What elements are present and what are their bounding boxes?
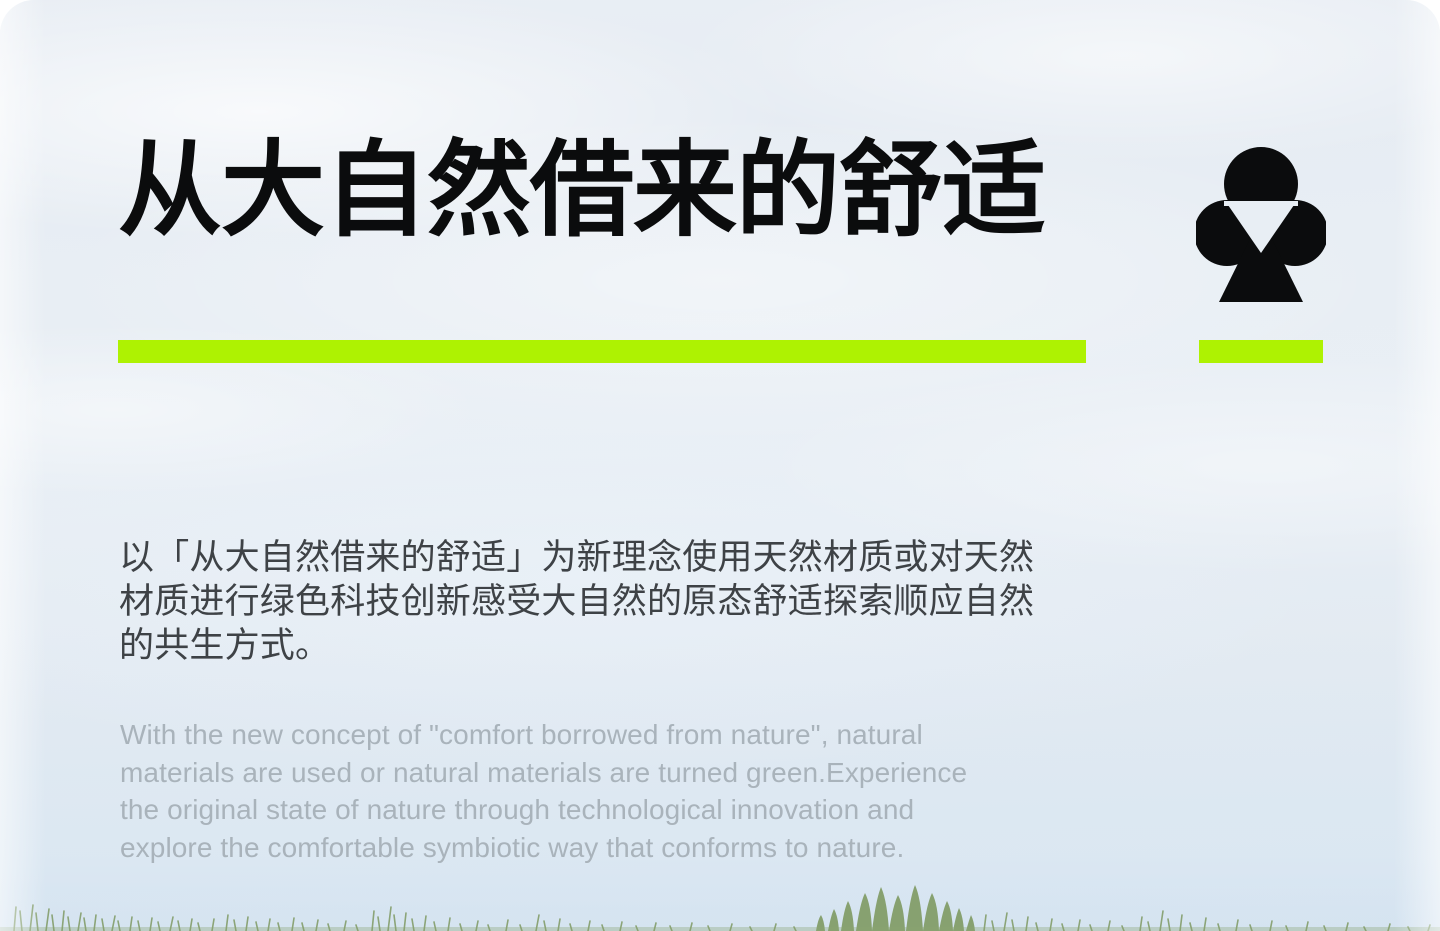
description-en-line-1: With the new concept of "comfort borrowe… xyxy=(120,716,1120,754)
page-title: 从大自然借来的舒适 xyxy=(118,136,1045,246)
description-en-line-4: explore the comfortable symbiotic way th… xyxy=(120,829,1120,867)
logo-accent-bar xyxy=(1199,340,1323,363)
description-en-line-2: materials are used or natural materials … xyxy=(120,754,1120,792)
hero-banner: 从大自然借来的舒适 以「从大自然借来的舒适」为新理念使用天然材质或对天然 材质进… xyxy=(0,0,1440,931)
description-cn-line-3: 的共生方式。 xyxy=(119,624,1109,668)
banner-content: 从大自然借来的舒适 以「从大自然借来的舒适」为新理念使用天然材质或对天然 材质进… xyxy=(0,0,1440,931)
description-cn: 以「从大自然借来的舒适」为新理念使用天然材质或对天然 材质进行绿色科技创新感受大… xyxy=(119,536,1109,668)
description-cn-line-2: 材质进行绿色科技创新感受大自然的原态舒适探索顺应自然 xyxy=(119,580,1109,624)
description-en: With the new concept of "comfort borrowe… xyxy=(120,716,1120,866)
description-cn-line-1: 以「从大自然借来的舒适」为新理念使用天然材质或对天然 xyxy=(119,536,1109,580)
club-clover-icon xyxy=(1196,147,1326,302)
description-en-line-3: the original state of nature through tec… xyxy=(120,791,1120,829)
title-accent-bar xyxy=(118,340,1086,363)
